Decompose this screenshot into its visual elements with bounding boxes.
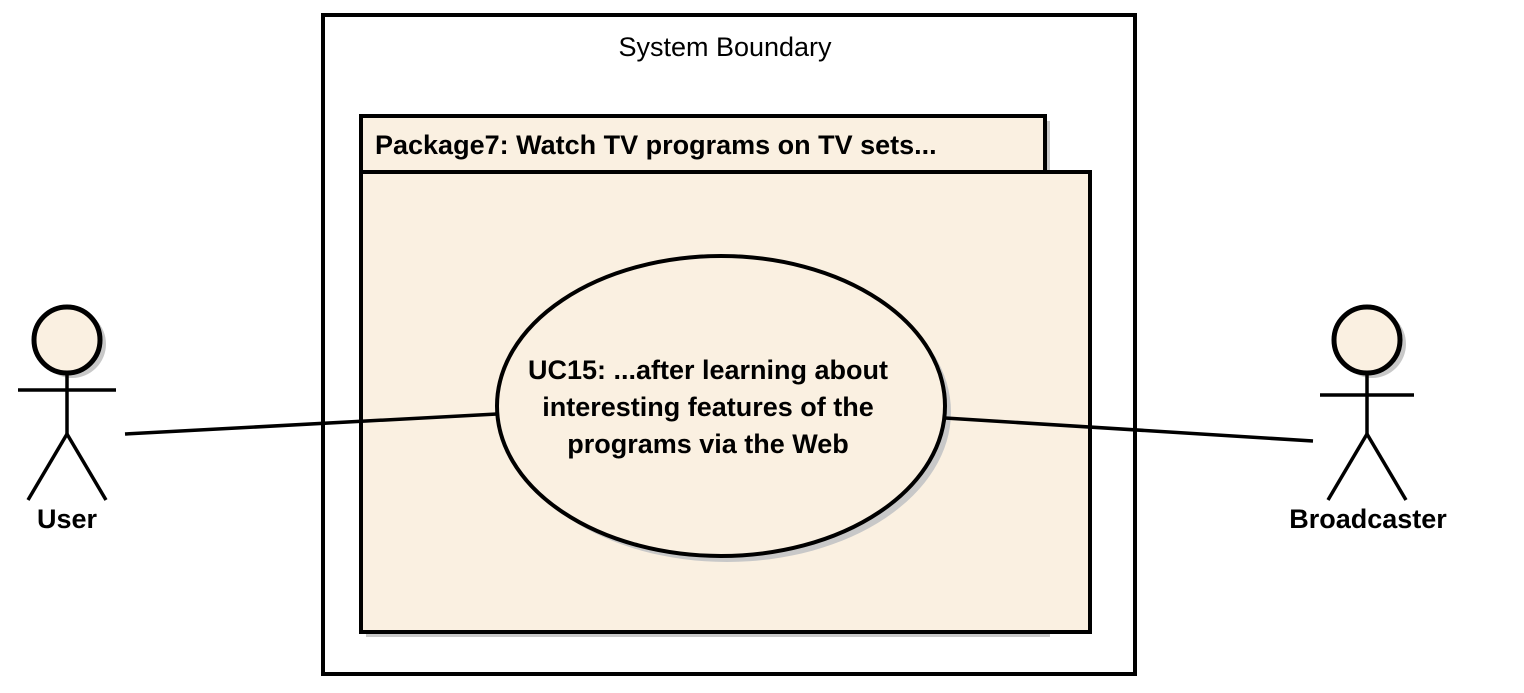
actor-user-head (34, 307, 100, 373)
use-case-label-line-2: interesting features of the (542, 392, 874, 422)
actor-broadcaster-leg-right (1367, 434, 1406, 500)
actor-broadcaster[interactable] (1320, 307, 1414, 500)
use-case-label-line-3: programs via the Web (567, 429, 849, 459)
actor-user[interactable] (18, 307, 116, 500)
package-label: Package7: Watch TV programs on TV sets..… (375, 130, 937, 160)
diagram-canvas: System Boundary Package7: Watch TV progr… (0, 0, 1524, 693)
use-case-diagram: System Boundary Package7: Watch TV progr… (0, 0, 1524, 693)
actor-broadcaster-leg-left (1328, 434, 1367, 500)
actor-user-label: User (37, 504, 98, 534)
actor-user-leg-left (28, 434, 67, 500)
actor-user-leg-right (67, 434, 106, 500)
use-case-label-line-1: UC15: ...after learning about (528, 355, 888, 385)
system-boundary-label: System Boundary (618, 32, 832, 62)
actor-broadcaster-label: Broadcaster (1289, 504, 1447, 534)
actor-broadcaster-head (1334, 307, 1400, 373)
